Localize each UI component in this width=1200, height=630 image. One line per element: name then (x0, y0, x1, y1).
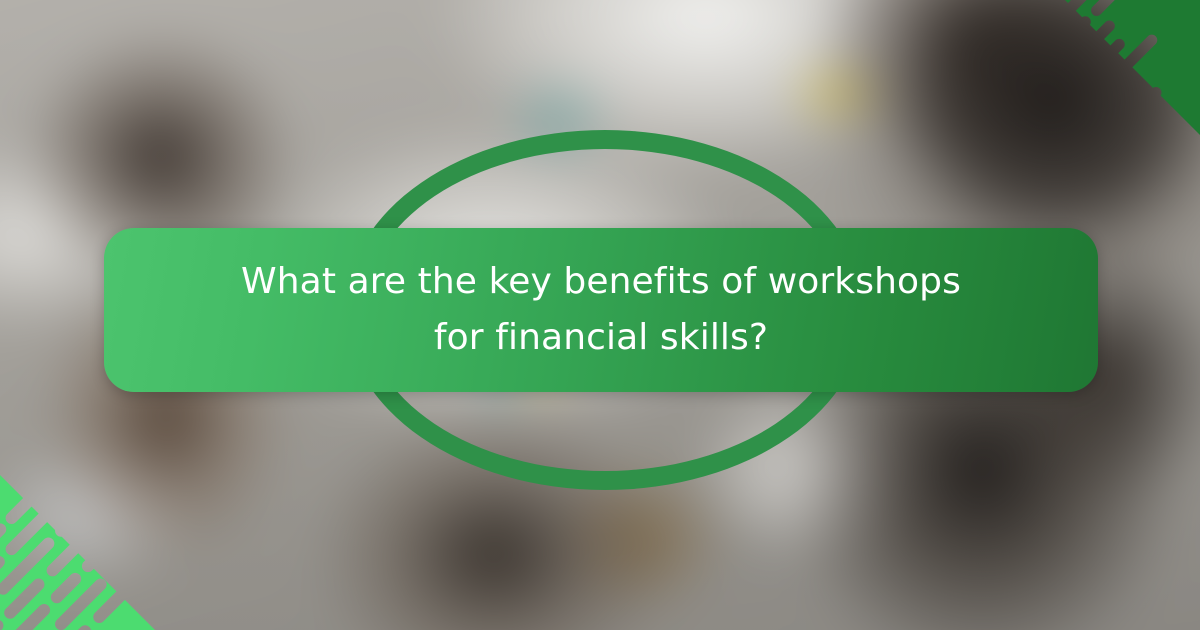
question-text: What are the key benefits of workshops f… (231, 254, 971, 366)
top-right-decoration-icon (1030, 0, 1200, 135)
promo-banner: What are the key benefits of workshops f… (0, 0, 1200, 630)
bottom-left-decoration-icon (0, 475, 190, 630)
question-card: What are the key benefits of workshops f… (104, 228, 1098, 392)
